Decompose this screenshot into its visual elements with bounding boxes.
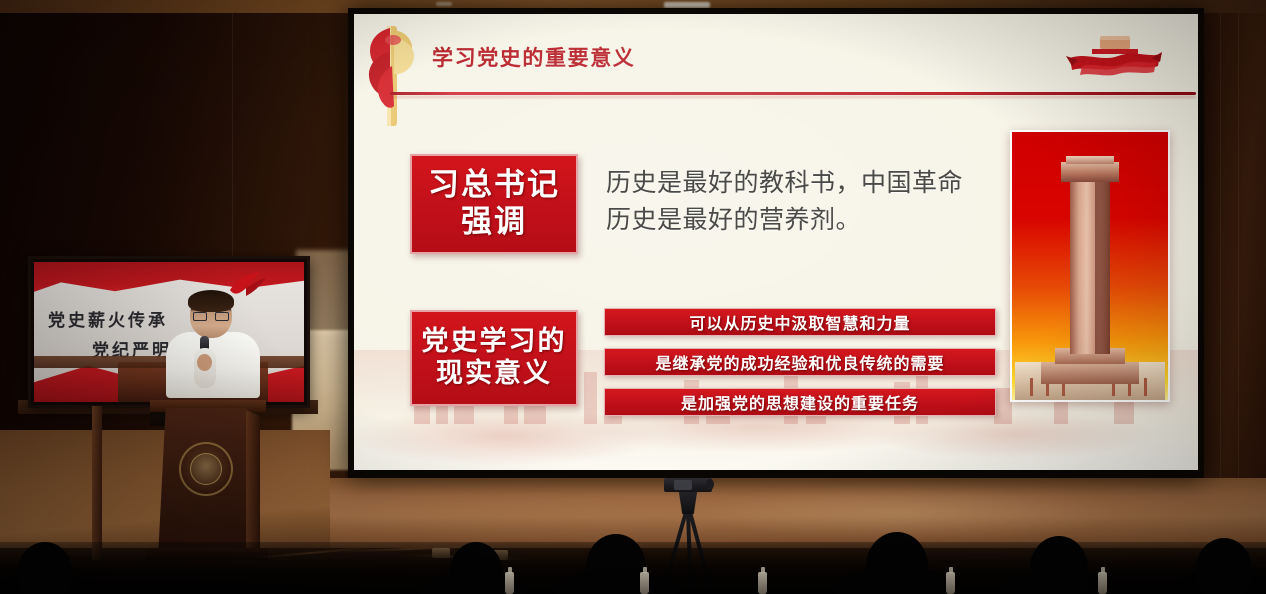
podium — [158, 408, 254, 558]
camera-lens-icon — [674, 480, 692, 490]
monument-base-lower — [1041, 362, 1139, 384]
monument-shaft-shadow — [1095, 178, 1110, 354]
label-line-1: 党史学习的 — [422, 326, 567, 358]
red-ribbon-building-icon — [1062, 32, 1166, 82]
audience-head — [450, 542, 502, 594]
wall-seam — [1238, 0, 1239, 520]
water-bottle — [758, 572, 767, 594]
audience-head — [1030, 536, 1088, 594]
lecture-hall-scene: 学习党史的重要意义 习总书记 强调 历史 — [0, 0, 1266, 594]
water-bottle — [640, 572, 649, 594]
floor-reflection — [700, 482, 1120, 542]
flying-bird-icon — [226, 270, 270, 300]
wall-seam — [1220, 0, 1221, 520]
ceiling-lamp — [436, 2, 452, 6]
label-line-2: 强调 — [461, 204, 527, 241]
red-flag-torch-icon — [364, 22, 420, 130]
water-bottle — [946, 572, 955, 594]
bullet-bar: 是继承党的成功经验和优良传统的需要 — [604, 348, 996, 376]
projection-screen-frame: 学习党史的重要意义 习总书记 强调 历史 — [348, 8, 1204, 478]
monument-image — [1010, 130, 1170, 402]
water-bottle — [505, 572, 514, 594]
podium-side-panel — [246, 410, 260, 556]
speaker-hair — [188, 290, 234, 312]
presentation-slide[interactable]: 学习党史的重要意义 习总书记 强调 历史 — [354, 14, 1198, 470]
school-crest-icon — [179, 442, 233, 496]
podium-edge — [92, 406, 102, 560]
speaker-glasses — [193, 312, 229, 321]
audience-head — [866, 532, 928, 594]
camera-knob — [706, 479, 714, 490]
slide-header: 学习党史的重要意义 — [354, 26, 1198, 88]
audience-head — [1196, 538, 1252, 594]
title-divider-shadow — [390, 96, 1196, 98]
audience-head — [18, 542, 72, 594]
label-line-1: 习总书记 — [428, 167, 560, 204]
monument-cap-top — [1066, 156, 1114, 164]
bullet-bar: 可以从历史中汲取智慧和力量 — [604, 308, 996, 336]
tripod-head — [676, 492, 700, 514]
audience-head — [586, 534, 646, 594]
bullet-bar: 是加强党的思想建设的重要任务 — [604, 388, 996, 416]
slide-title: 学习党史的重要意义 — [432, 42, 635, 72]
crest-inner — [190, 453, 222, 485]
water-bottle — [1098, 572, 1107, 594]
right-wall — [1196, 0, 1266, 520]
label-practical-significance: 党史学习的 现实意义 — [410, 310, 578, 406]
banner-line-1: 党史薪火传承 — [48, 306, 168, 331]
monitor-screen: 党史薪火传承 党纪严明践行 —— 专题党课 — [34, 262, 304, 402]
label-line-2: 现实意义 — [436, 358, 552, 390]
quote-text: 历史是最好的教科书，中国革命历史是最好的营养剂。 — [606, 164, 988, 238]
label-general-secretary: 习总书记 强调 — [410, 154, 578, 254]
monument-cap — [1061, 162, 1119, 182]
speaker-hand — [197, 354, 212, 371]
side-monitor[interactable]: 党史薪火传承 党纪严明践行 —— 专题党课 — [28, 256, 310, 408]
title-divider — [390, 92, 1196, 95]
